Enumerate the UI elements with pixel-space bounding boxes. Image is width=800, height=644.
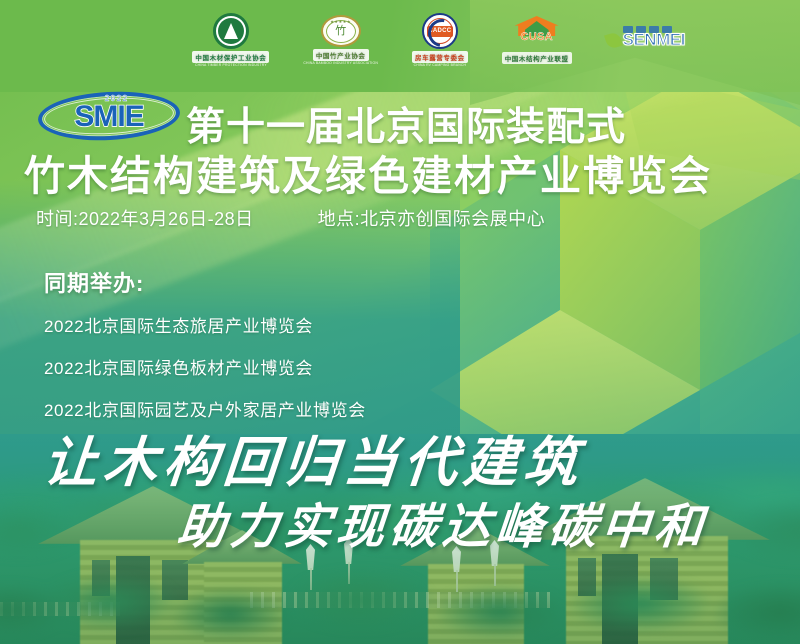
- senmei-leaf-icon: SENMEI: [606, 25, 698, 55]
- bamboo-oval-icon: ★★★★★ 竹: [321, 15, 361, 47]
- organizer-logo-3-sub: CHINA RV CAMPING BRANCH: [414, 63, 467, 67]
- cusa-wordmark: CUSA: [511, 31, 563, 43]
- tree-circle-icon: [213, 13, 249, 49]
- title-line-2: 竹木结构建筑及绿色建材产业博览会: [24, 142, 712, 202]
- organizer-logo-5: SENMEI: [606, 25, 698, 55]
- event-venue: 地点:北京亦创国际会展中心: [318, 205, 546, 231]
- concurrent-event-item: 2022北京国际生态旅居产业博览会: [44, 312, 366, 337]
- organizer-logo-4-label: 中国木结构产业联盟: [502, 52, 572, 64]
- organizer-logo-1-label: 中国木材保护工业协会: [192, 51, 269, 63]
- organizer-logo-2: ★★★★★ 竹 中国竹产业协会 CHINA BAMBOO INDUSTRY AS…: [303, 15, 378, 65]
- house-cusa-icon: CUSA: [509, 16, 565, 50]
- organizer-logo-1: 中国木材保护工业协会 CHINA TIMBER PROTECTION INDUS…: [192, 13, 269, 67]
- smie-wordmark: SMIE: [38, 100, 180, 134]
- concurrent-event-item: 2022北京国际绿色板材产业博览会: [44, 354, 366, 379]
- concurrent-events-heading: 同期举办:: [44, 266, 366, 298]
- organizer-logo-1-sub: CHINA TIMBER PROTECTION INDUSTRY: [195, 63, 267, 67]
- event-meta: 时间:2022年3月26日-28日 地点:北京亦创国际会展中心: [36, 205, 545, 231]
- organizer-logo-strip: 中国木材保护工业协会 CHINA TIMBER PROTECTION INDUS…: [0, 8, 800, 72]
- smie-logo: 2022 SMIE: [38, 92, 180, 140]
- slogan-line-1: 让木构回归当代建筑: [41, 418, 588, 497]
- organizer-logo-4: CUSA 中国木结构产业联盟: [502, 16, 572, 64]
- event-date: 时间:2022年3月26日-28日: [36, 205, 254, 231]
- slogan-line-2: 助力实现碳达峰碳中和: [175, 487, 711, 557]
- organizer-logo-3-label: 房车露营专委会: [412, 51, 468, 63]
- organizer-logo-3: CADCC 房车露营专委会 CHINA RV CAMPING BRANCH: [412, 13, 468, 67]
- senmei-wordmark: SENMEI: [623, 30, 685, 50]
- exhibition-poster: 中国木材保护工业协会 CHINA TIMBER PROTECTION INDUS…: [0, 0, 800, 644]
- organizer-logo-2-sub: CHINA BAMBOO INDUSTRY ASSOCIATION: [303, 61, 378, 65]
- cadcc-badge-icon: CADCC: [422, 13, 458, 49]
- concurrent-events: 同期举办: 2022北京国际生态旅居产业博览会 2022北京国际绿色板材产业博览…: [44, 266, 366, 438]
- organizer-logo-2-label: 中国竹产业协会: [313, 49, 369, 61]
